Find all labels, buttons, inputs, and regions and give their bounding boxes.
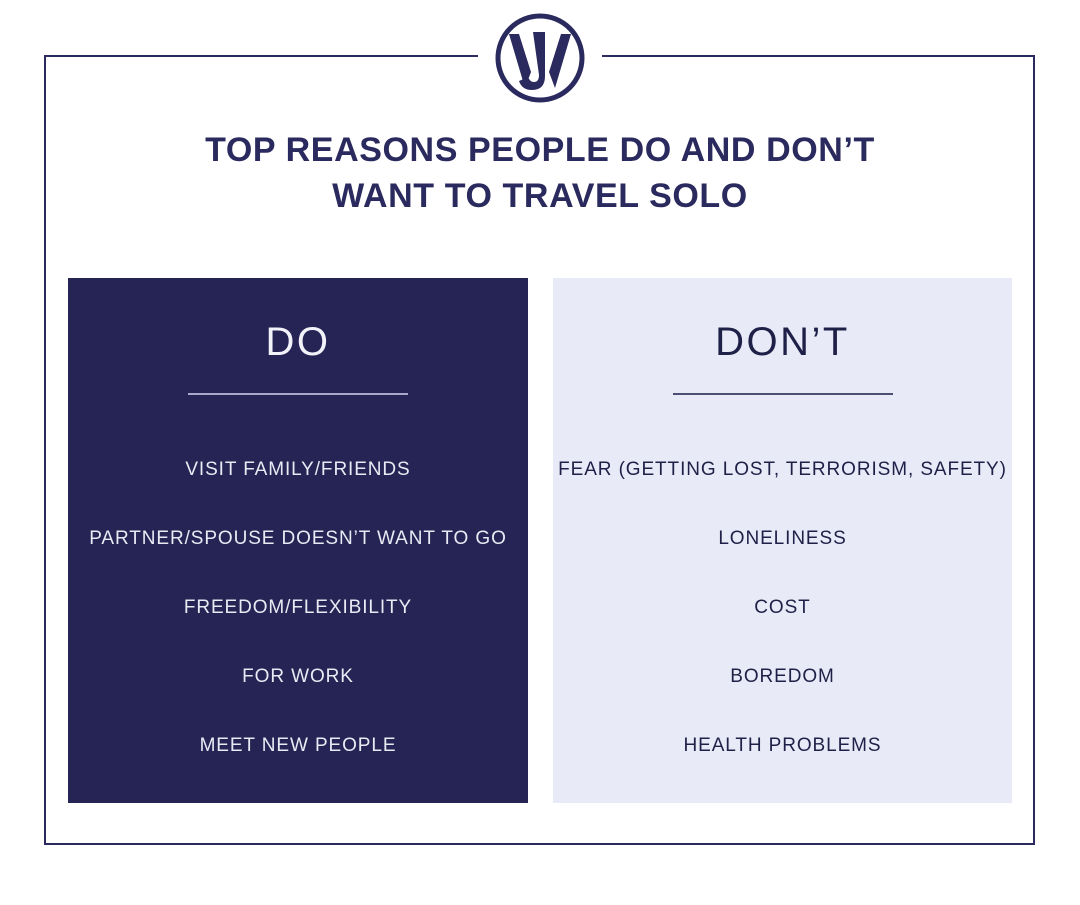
list-item: PARTNER/SPOUSE DOESN’T WANT TO GO xyxy=(68,504,528,573)
panel-dont-divider xyxy=(673,393,893,395)
list-item: COST xyxy=(553,573,1012,642)
list-item: BOREDOM xyxy=(553,642,1012,711)
panel-dont-list: FEAR (GETTING LOST, TERRORISM, SAFETY) L… xyxy=(553,435,1012,780)
panel-do-divider xyxy=(188,393,408,395)
page-title-line-1: TOP REASONS PEOPLE DO AND DON’T xyxy=(70,128,1010,174)
panel-dont: DON’T FEAR (GETTING LOST, TERRORISM, SAF… xyxy=(553,278,1012,803)
list-item: MEET NEW PEOPLE xyxy=(68,711,528,780)
comparison-panels: DO VISIT FAMILY/FRIENDS PARTNER/SPOUSE D… xyxy=(68,278,1012,803)
infographic-canvas: TOP REASONS PEOPLE DO AND DON’T WANT TO … xyxy=(0,0,1080,905)
page-title: TOP REASONS PEOPLE DO AND DON’T WANT TO … xyxy=(70,128,1010,219)
list-item: HEALTH PROBLEMS xyxy=(553,711,1012,780)
page-title-line-2: WANT TO TRAVEL SOLO xyxy=(70,174,1010,220)
panel-do-heading: DO xyxy=(68,320,528,365)
panel-do-list: VISIT FAMILY/FRIENDS PARTNER/SPOUSE DOES… xyxy=(68,435,528,780)
panel-dont-heading: DON’T xyxy=(553,320,1012,365)
list-item: FEAR (GETTING LOST, TERRORISM, SAFETY) xyxy=(553,435,1012,504)
list-item: FREEDOM/FLEXIBILITY xyxy=(68,573,528,642)
list-item: LONELINESS xyxy=(553,504,1012,573)
list-item: FOR WORK xyxy=(68,642,528,711)
list-item: VISIT FAMILY/FRIENDS xyxy=(68,435,528,504)
panel-do: DO VISIT FAMILY/FRIENDS PARTNER/SPOUSE D… xyxy=(68,278,528,803)
